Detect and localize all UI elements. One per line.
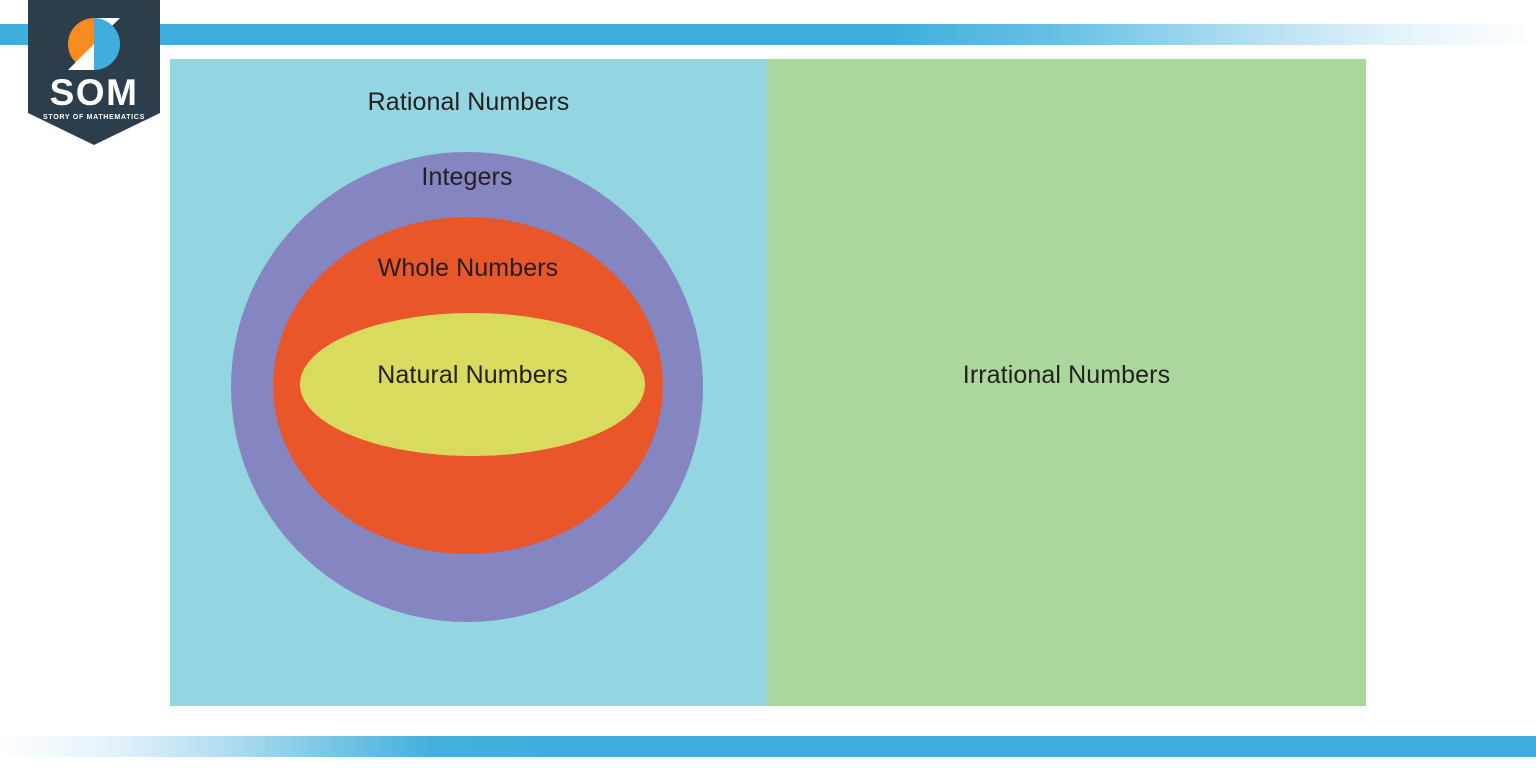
som-s-monogram-icon bbox=[68, 18, 120, 70]
som-wordmark: SOM bbox=[50, 72, 139, 113]
som-logo-badge[interactable]: SOM STORY OF MATHEMATICS bbox=[28, 0, 160, 145]
label-integers: Integers bbox=[231, 165, 703, 190]
label-irrational-numbers: Irrational Numbers bbox=[767, 363, 1366, 388]
badge-shape: SOM STORY OF MATHEMATICS bbox=[28, 0, 160, 145]
label-rational-numbers: Rational Numbers bbox=[170, 90, 767, 115]
bottom-accent-stripe bbox=[0, 736, 1536, 757]
top-accent-stripe bbox=[0, 24, 1536, 45]
label-natural-numbers: Natural Numbers bbox=[300, 363, 645, 388]
som-tagline: STORY OF MATHEMATICS bbox=[43, 114, 145, 121]
slide-canvas: SOM STORY OF MATHEMATICS Rational Number… bbox=[0, 0, 1536, 768]
label-whole-numbers: Whole Numbers bbox=[273, 256, 663, 281]
